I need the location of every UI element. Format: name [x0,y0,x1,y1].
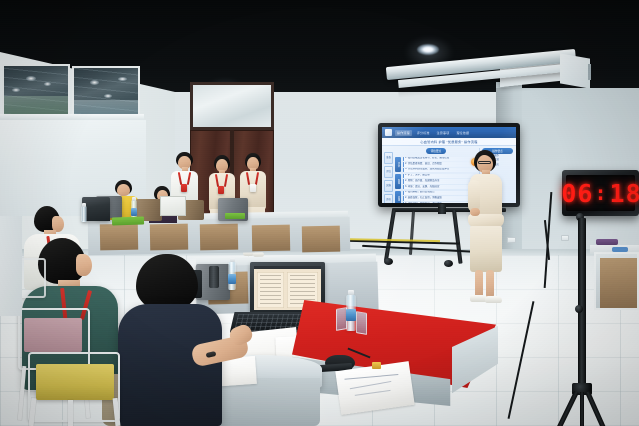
chair-leg [68,400,73,426]
timer-display: 0 6 : 1 8 [566,175,635,211]
door-transom-window [190,82,274,130]
presenter-hands [470,208,480,216]
countdown-timer: 0 6 : 1 8 [562,170,639,216]
water-bottle[interactable] [346,295,356,331]
bottle-cap [348,290,354,295]
bottle-cap [82,203,86,207]
id-badge [181,184,187,192]
paper-mark [344,374,398,380]
slide-tab-1[interactable]: 评分标准 [415,130,432,136]
slide-block-label-1: 准备 [395,174,401,190]
cabinet-wood-panel [600,258,637,308]
laptop-open-white[interactable] [160,196,186,216]
timer-digit-3: 8 [626,181,639,206]
green-mousepad [225,213,245,219]
paper-mark [350,381,392,389]
ear-and-face [76,254,92,276]
timer-digit-1: 6 [577,181,591,206]
interior-window-left [2,64,70,116]
cabinet-item-blue [612,247,628,252]
slide-tab-0[interactable]: 操作流程 [395,130,412,136]
paper-mark [355,390,391,396]
acrylic-nameplate[interactable] [356,311,367,335]
ac-bracket [588,64,591,80]
slide-block-label-2: 实施 [395,191,401,203]
slide-block-label-0: 评估 [395,157,401,173]
chair-seat [24,318,82,352]
bottle-label [346,309,356,321]
tv-stand-caster [384,258,393,265]
slide-logo-icon [385,129,392,136]
glasses-icon [478,161,491,164]
green-mousepad [112,216,144,225]
slide-title-text: 心血管内科 护理 "优质服务" 操作流程 [420,139,477,144]
wall-outlet[interactable] [561,235,569,241]
bottle-label [131,208,137,216]
face [117,184,130,196]
chair-seat-cushion [36,364,114,400]
bottle-cap [132,197,136,201]
left-wall-foreground [0,216,22,316]
slide-rail-chip-1[interactable]: 评估 [384,166,393,178]
slide-rail-chip-2[interactable]: 实施 [384,180,393,192]
water-bottle[interactable] [81,206,87,222]
tv-stand-column [438,204,446,214]
ac-end-cap [560,53,590,88]
slide-tab-2[interactable]: 注意事项 [435,130,452,136]
slide-rail-chip-0[interactable]: 准备 [384,152,393,164]
desk-wood-panel [200,224,238,251]
bottle-label [228,274,236,284]
slide-heading-button: 评估要点 [426,148,447,154]
presenter-by-screen [458,150,510,310]
desk-wood-panel [150,224,188,251]
tripod-leg [580,392,584,426]
presenter-leg [486,270,494,298]
desk-wood-panel [302,226,340,253]
water-bottle[interactable] [228,262,236,290]
seated-participant-navy [118,254,228,426]
slide-left-rail: 准备 评估 实施 评价 [384,148,393,203]
tv-stand-caster [444,260,453,267]
cabinet-item-cloth [596,239,618,245]
slide-title-strip: 心血管内科 护理 "优质服务" 操作流程 [382,138,516,146]
gold-badge-item[interactable] [372,362,381,369]
slide-tab-3[interactable]: 理论依据 [454,130,471,136]
slide-top-navbar: 操作流程 评分标准 注意事项 理论依据 [382,127,516,138]
timer-digit-2: 1 [610,181,624,206]
presenter-shoe [485,296,502,303]
timer-colon: : [594,183,606,203]
downlight-icon [417,44,439,55]
desk-wood-panel [252,225,290,252]
interior-window-right [72,66,140,116]
timer-digit-0: 0 [561,181,575,206]
tripod-height-knob[interactable] [575,305,583,313]
id-badge [250,184,256,192]
id-badge [218,186,224,194]
back-cabinet [594,252,639,310]
document-page-left [257,272,284,308]
hair [136,254,198,310]
tripod-column [578,218,586,388]
photo-scene: 操作流程 评分标准 注意事项 理论依据 心血管内科 护理 "优质服务" 操作流程… [0,0,639,426]
bottle-cap [230,258,235,262]
presenter-skirt [470,226,502,272]
presenter-leg [475,270,483,298]
slide-rail-chip-3[interactable]: 评价 [384,194,393,203]
